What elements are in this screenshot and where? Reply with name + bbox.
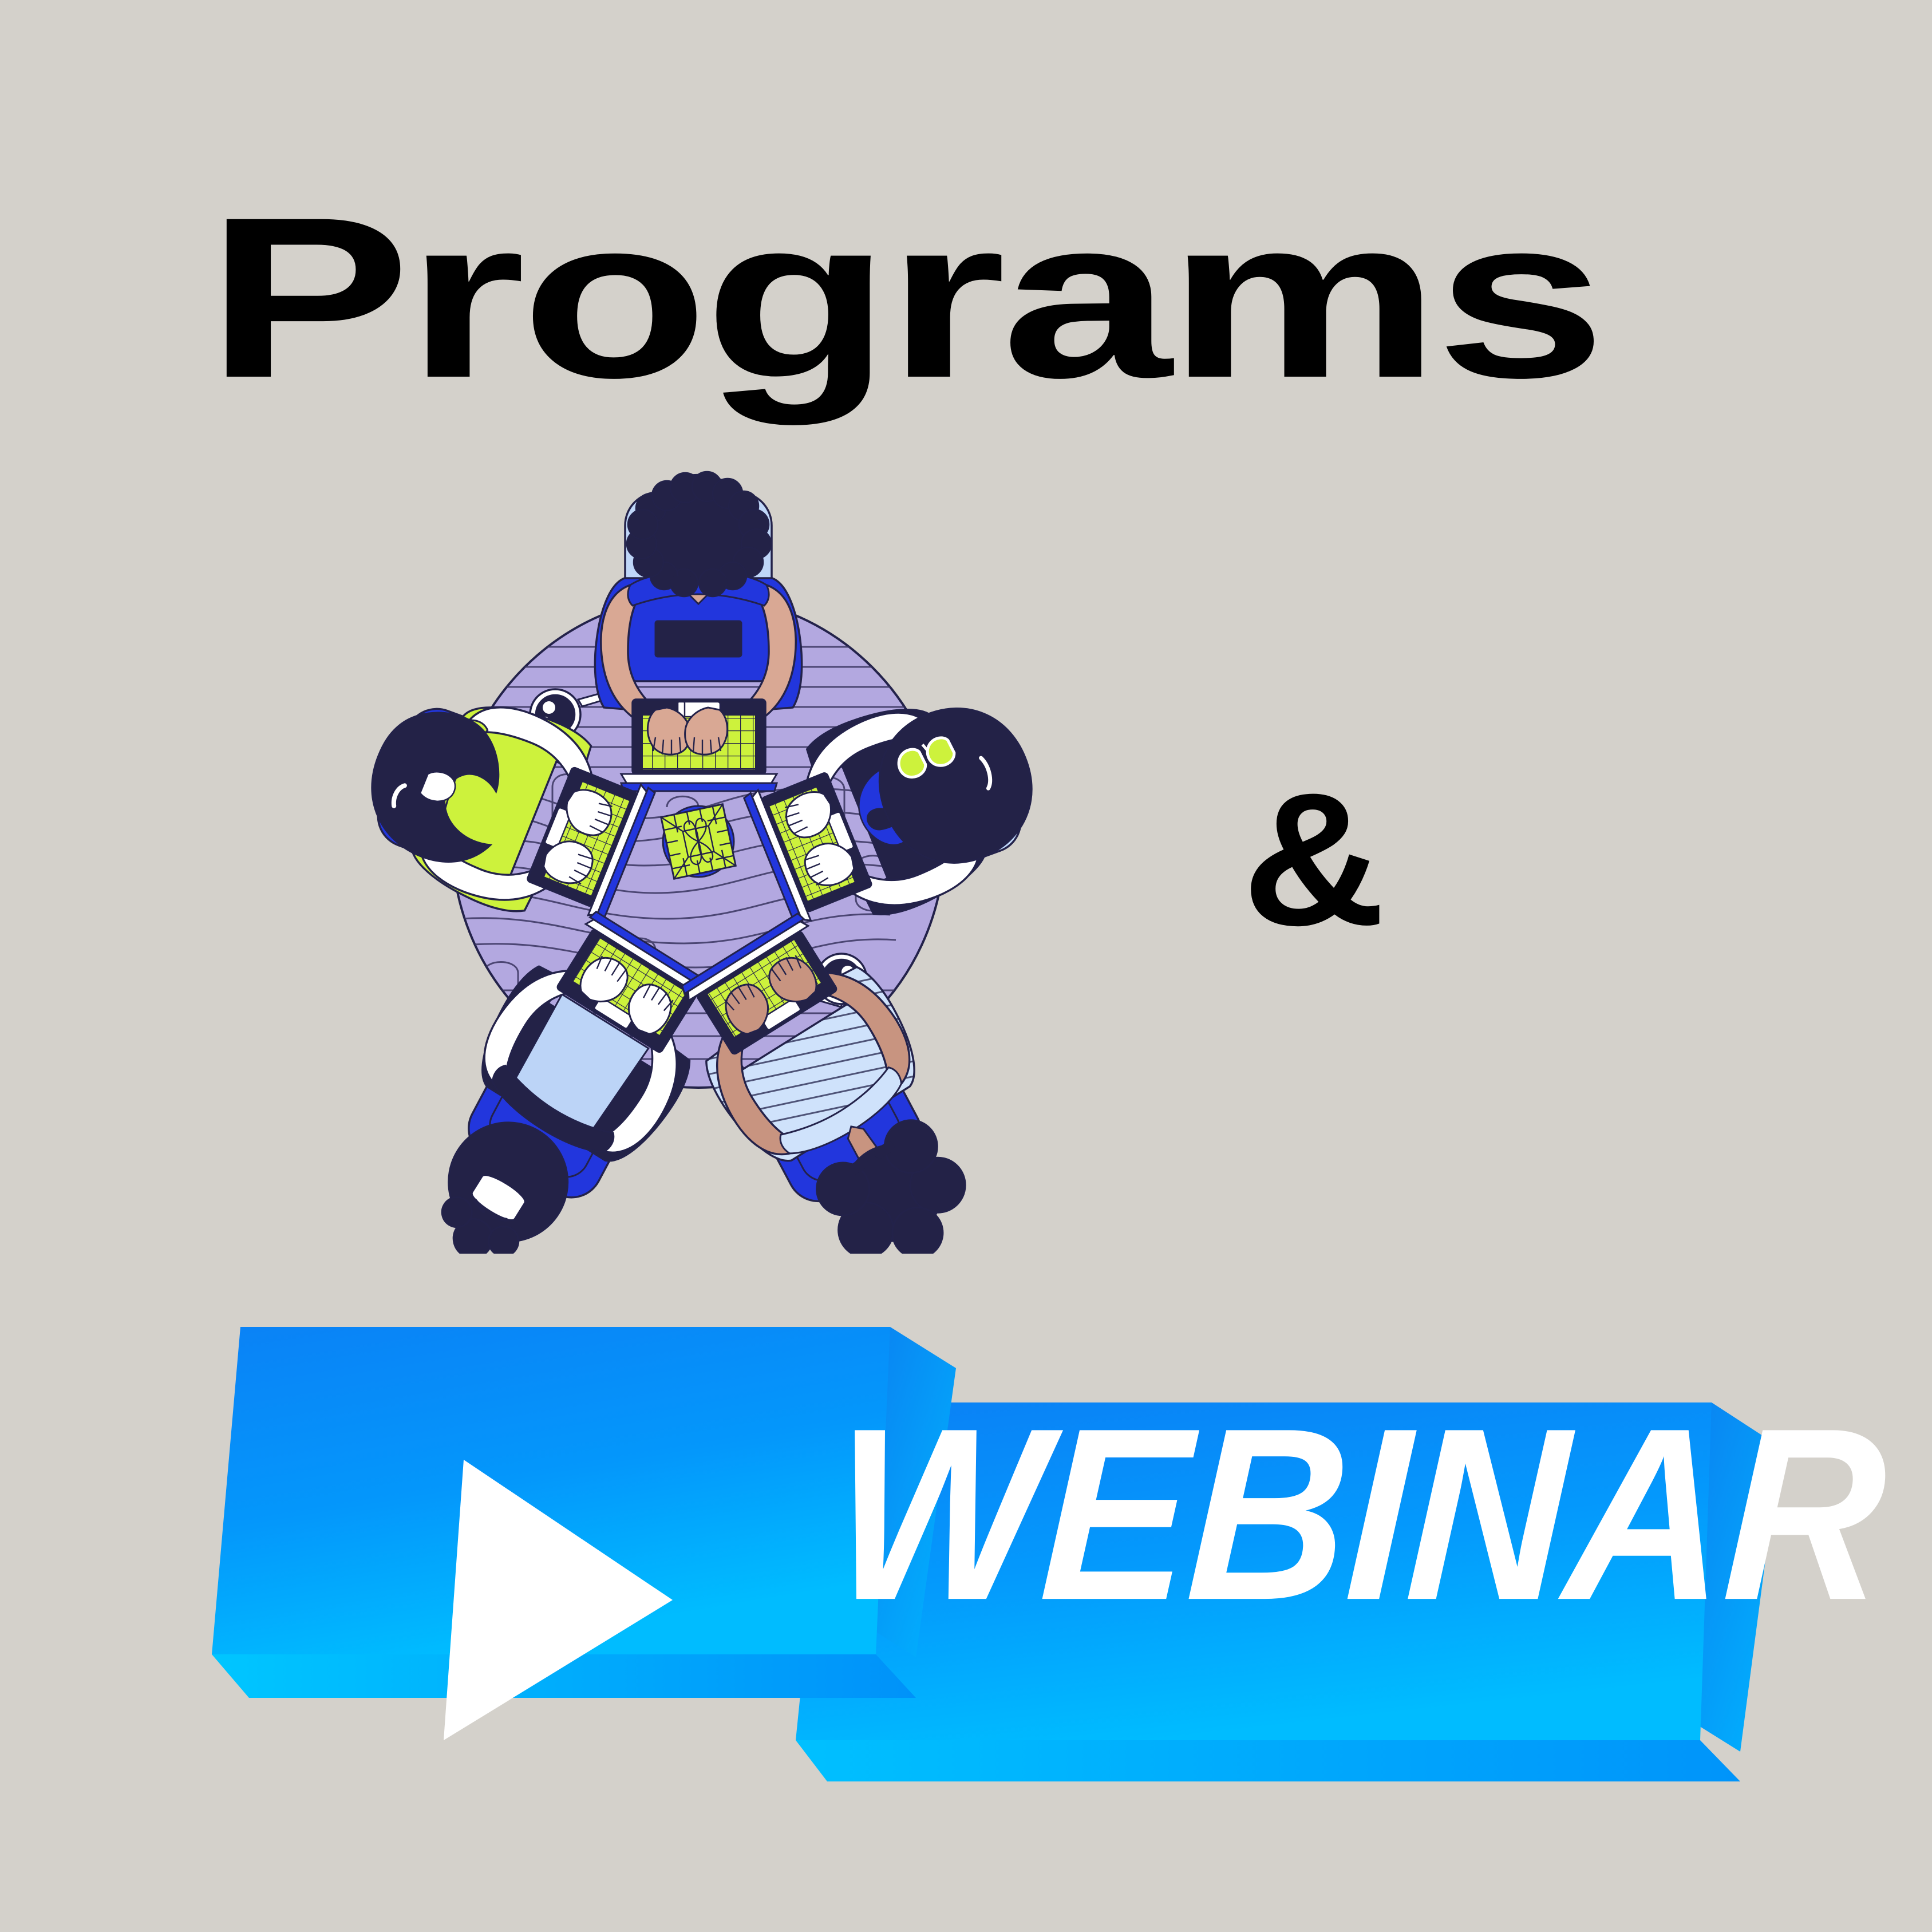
gift-box-icon [661,804,736,879]
banner-slab-left [212,1327,956,1740]
webinar-banner[interactable] [155,1288,1815,1803]
team-meeting-illustration [312,441,1085,1254]
ampersand-glyph: & [1242,765,1385,954]
poster-canvas: Programs & [0,0,1932,1932]
banner-slab-right [796,1402,1780,1781]
page-title: Programs [206,199,1602,396]
